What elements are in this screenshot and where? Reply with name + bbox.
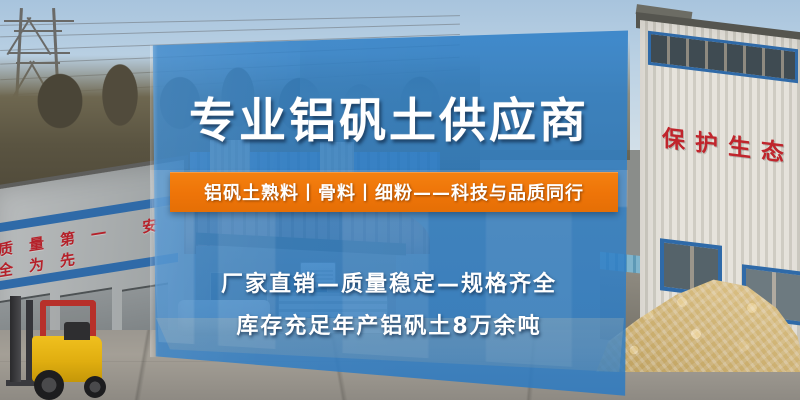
- promo-banner: 质量第一 安全为先 保护生态: [0, 0, 800, 400]
- forklift-wheel: [34, 370, 64, 400]
- forklift-seat: [64, 322, 90, 340]
- page-title: 专业铝矾土供应商: [150, 82, 628, 151]
- forklift: [6, 296, 118, 400]
- subline-1: 厂家直销—质量稳定—规格齐全: [150, 266, 628, 298]
- subline-2: 库存充足年产铝矾土8万余吨: [150, 308, 628, 340]
- banner-content: 专业铝矾土供应商 铝矾土熟料丨骨料丨细粉——科技与品质同行 厂家直销—质量稳定—…: [150, 26, 628, 398]
- forklift-mast: [10, 296, 21, 382]
- tagline-text: 铝矾土熟料丨骨料丨细粉——科技与品质同行: [204, 179, 584, 205]
- forklift-wheel: [84, 376, 106, 398]
- tagline-bar: 铝矾土熟料丨骨料丨细粉——科技与品质同行: [170, 172, 618, 212]
